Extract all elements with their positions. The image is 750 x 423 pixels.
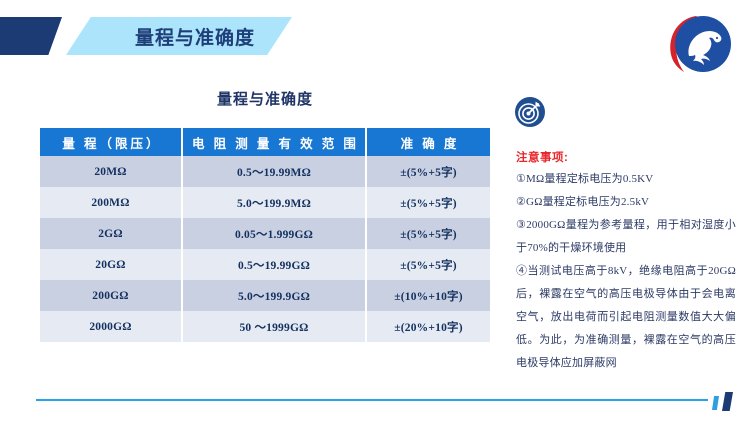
- slide-root: 量程与准确度 量程与准确度 量 程（限压） 电 阻 测 量 有 效 范 围 准 …: [0, 0, 750, 423]
- table-cell-range: 2000GΩ: [40, 311, 182, 342]
- horse-circle-logo: [662, 6, 738, 82]
- table-cell-effective-range: 5.0～199.9GΩ: [182, 280, 366, 311]
- table-cell-range: 20MΩ: [40, 156, 182, 187]
- table-header-cell: 电 阻 测 量 有 效 范 围: [182, 128, 366, 156]
- table-cell-accuracy: ±(5%+5字): [366, 156, 490, 187]
- table-header-row: 量 程（限压） 电 阻 测 量 有 效 范 围 准 确 度: [40, 128, 490, 156]
- table-header-cell: 量 程（限压）: [40, 128, 182, 156]
- range-accuracy-table: 量 程（限压） 电 阻 测 量 有 效 范 围 准 确 度 20MΩ 0.5～1…: [40, 128, 490, 342]
- table-cell-range: 200MΩ: [40, 187, 182, 218]
- table-cell-accuracy: ±(5%+5字): [366, 218, 490, 249]
- note-item: ③2000GΩ量程为参考量程，用于相对湿度小于70%的干燥环境使用: [516, 214, 736, 260]
- table-cell-accuracy: ±(5%+5字): [366, 187, 490, 218]
- table-cell-effective-range: 50 ～1999GΩ: [182, 311, 366, 342]
- table-header-cell: 准 确 度: [366, 128, 490, 156]
- table-cell-effective-range: 0.05～1.999GΩ: [182, 218, 366, 249]
- table-row: 20GΩ 0.5～19.99GΩ ±(5%+5字): [40, 249, 490, 280]
- note-item: ④当测试电压高于8kV，绝缘电阻高于20GΩ后，裸露在空气的高压电极导体由于会电…: [516, 260, 736, 375]
- header-banner: 量程与准确度: [0, 17, 420, 55]
- footer-divider-line: [36, 399, 708, 401]
- table-cell-effective-range: 0.5～19.99GΩ: [182, 249, 366, 280]
- table-cell-effective-range: 0.5～19.99MΩ: [182, 156, 366, 187]
- banner-title: 量程与准确度: [80, 17, 310, 55]
- table-cell-accuracy: ±(20%+10字): [366, 311, 490, 342]
- table-cell-range: 200GΩ: [40, 280, 182, 311]
- target-icon: [514, 96, 546, 128]
- table-row: 20MΩ 0.5～19.99MΩ ±(5%+5字): [40, 156, 490, 187]
- note-item: ①MΩ量程定标电压为0.5KV: [516, 168, 736, 191]
- table-cell-accuracy: ±(10%+10字): [366, 280, 490, 311]
- footer-accent-bar-dark: [722, 392, 733, 411]
- notes-heading: 注意事项:: [516, 149, 568, 165]
- table-row: 200MΩ 5.0～199.9MΩ ±(5%+5字): [40, 187, 490, 218]
- table-row: 200GΩ 5.0～199.9GΩ ±(10%+10字): [40, 280, 490, 311]
- table-row: 2000GΩ 50 ～1999GΩ ±(20%+10字): [40, 311, 490, 342]
- page-title: 量程与准确度: [40, 88, 490, 109]
- table-cell-effective-range: 5.0～199.9MΩ: [182, 187, 366, 218]
- table-cell-accuracy: ±(5%+5字): [366, 249, 490, 280]
- banner-dark-shape: [0, 17, 62, 55]
- table-cell-range: 2GΩ: [40, 218, 182, 249]
- table-cell-range: 20GΩ: [40, 249, 182, 280]
- table-row: 2GΩ 0.05～1.999GΩ ±(5%+5字): [40, 218, 490, 249]
- notes-body: ①MΩ量程定标电压为0.5KV ②GΩ量程定标电压为2.5kV ③2000GΩ量…: [516, 168, 736, 375]
- footer-accent-bar-light: [712, 396, 719, 410]
- note-item: ②GΩ量程定标电压为2.5kV: [516, 191, 736, 214]
